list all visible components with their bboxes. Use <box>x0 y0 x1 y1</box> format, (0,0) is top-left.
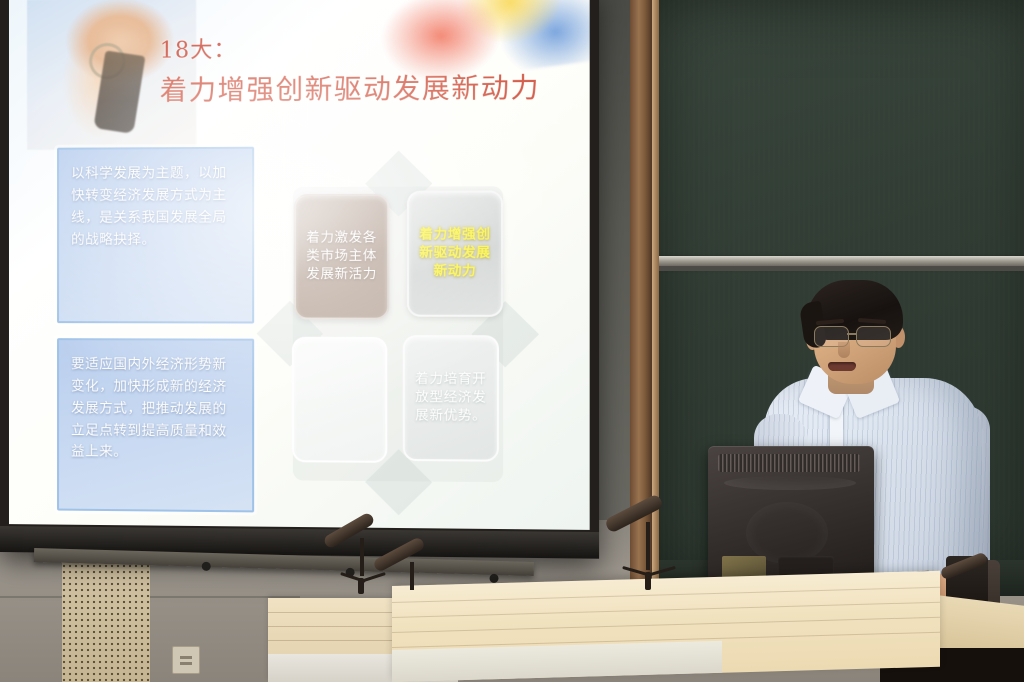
slide-title-line2: 着力增强创新驱动发展新动力 <box>160 65 571 108</box>
glasses-bridge <box>847 333 856 335</box>
microphone-right-stem <box>646 522 650 570</box>
slide-tile-2-text: 着力增强创新驱动发展新动力 <box>414 226 496 282</box>
presentation-slide: 18大： 着力增强创新驱动发展新动力 以科学发展为主题，以加快转变经济发展方式为… <box>9 0 590 530</box>
slide-title-line1: 18大： <box>160 29 571 65</box>
wall-seam <box>0 596 300 598</box>
desk-front-groove-2 <box>392 602 940 618</box>
slide-tile-2-highlighted: 着力增强创新驱动发展新动力 <box>407 190 503 316</box>
monitor-curve-highlight <box>724 476 856 490</box>
glasses-lens-right <box>856 326 891 347</box>
wall-outlet[interactable] <box>172 646 200 674</box>
chalkboard-rail <box>648 256 1024 266</box>
monitor-vents <box>718 454 860 472</box>
slide-title-block: 18大： 着力增强创新驱动发展新动力 <box>160 29 571 108</box>
slide-text-box-2: 要适应国内外经济形势新变化，加快形成新的经济发展方式，把推动发展的立足点转到提高… <box>57 338 254 512</box>
slide-tile-1-text: 着力激发各类市场主体发展新活力 <box>301 229 382 284</box>
slide-tile-1: 着力激发各类市场主体发展新活力 <box>294 194 389 320</box>
slide-text-box-1-text: 以科学发展为主题，以加快转变经济发展方式为主线，是关系我国发展全局的战略抉择。 <box>71 163 240 251</box>
presenter-mouth <box>828 362 856 371</box>
desk-front-groove-1 <box>392 587 940 603</box>
microphone-center-stem <box>410 562 414 590</box>
desk-front-groove-3 <box>392 617 940 633</box>
slide-tile-4-text: 着力培育开放型经济发展新优势。 <box>410 370 492 426</box>
monitor-rear-circle <box>746 502 828 564</box>
microphone-right-leg-3 <box>645 572 651 590</box>
slide-text-box-2-text: 要适应国内外经济形势新变化，加快形成新的经济发展方式，把推动发展的立足点转到提高… <box>71 354 240 465</box>
lecture-hall-scene: 18大： 着力增强创新驱动发展新动力 以科学发展为主题，以加快转变经济发展方式为… <box>0 0 1024 682</box>
presenter-nose <box>838 342 850 358</box>
projection-screen: 18大： 着力增强创新驱动发展新动力 以科学发展为主题，以加快转变经济发展方式为… <box>9 0 590 530</box>
slide-tile-4: 着力培育开放型经济发展新优势。 <box>403 335 499 462</box>
glasses-icon <box>812 326 904 346</box>
microphone-left-stem <box>360 538 364 576</box>
chalkboard-rail-shadow <box>648 266 1024 271</box>
projection-screen-frame: 18大： 着力增强创新驱动发展新动力 以科学发展为主题，以加快转变经济发展方式为… <box>0 0 599 559</box>
slide-tile-3-washed-out <box>292 337 387 463</box>
monitor-label-sticker <box>722 556 766 578</box>
computer-monitor[interactable] <box>708 446 874 592</box>
slide-text-box-1: 以科学发展为主题，以加快转变经济发展方式为主线，是关系我国发展全局的战略抉择。 <box>57 147 254 324</box>
microphone-left-leg-3 <box>358 578 364 594</box>
